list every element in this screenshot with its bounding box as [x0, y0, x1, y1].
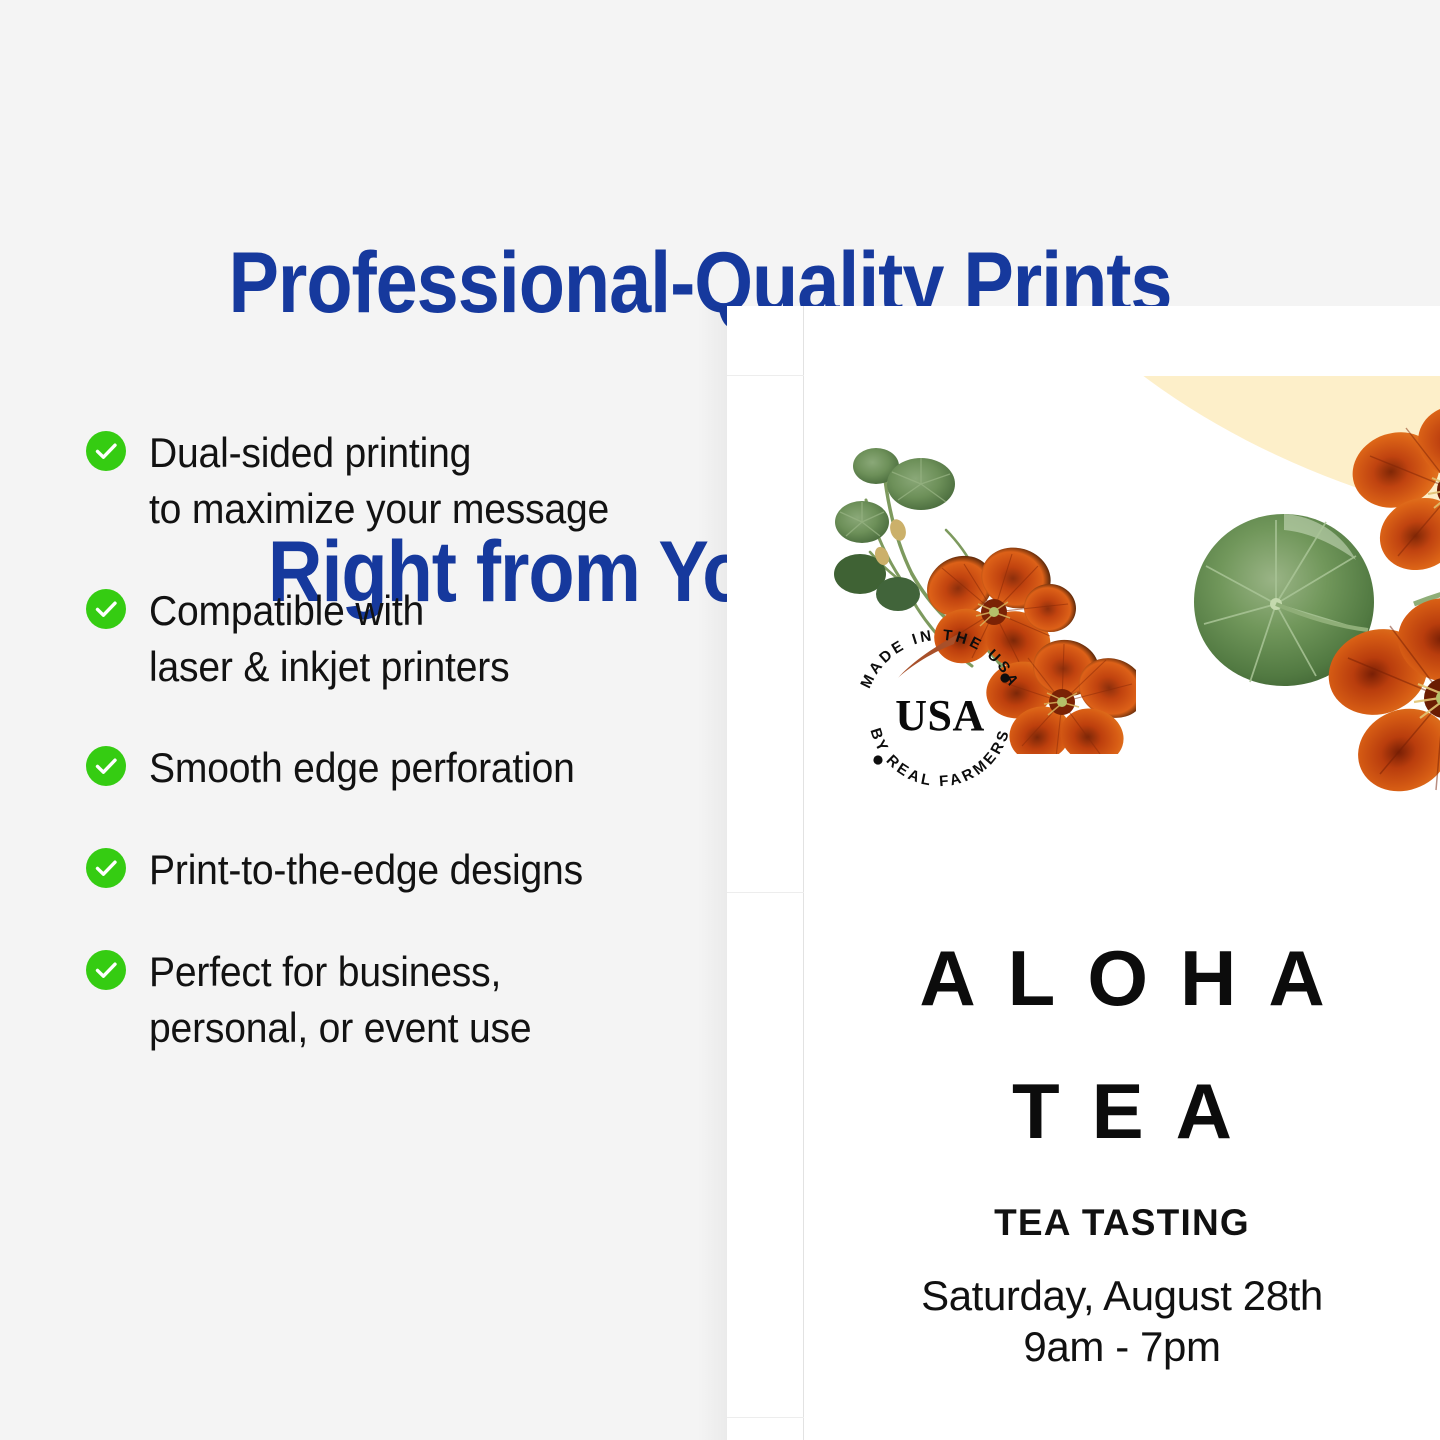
list-item-label: Perfect for business, personal, or event…	[149, 944, 531, 1056]
event-datetime-label: Saturday, August 28th9am - 7pm	[804, 1270, 1440, 1372]
flyer-brand-name: ALOHA TEA	[804, 939, 1440, 1150]
check-circle-icon	[86, 589, 126, 629]
list-item-label: Print-to-the-edge designs	[149, 842, 583, 898]
event-date-line: Saturday, August 28th	[921, 1272, 1323, 1319]
nasturtium-leaf-illustration	[1184, 504, 1384, 694]
check-circle-icon	[86, 746, 126, 786]
list-item-label: Smooth edge perforation	[149, 740, 575, 796]
list-item-label: Dual-sided printing to maximize your mes…	[149, 425, 609, 537]
printable-paper-sheet: MADE IN THE USA BY REAL FARMERS USA ALOH…	[727, 306, 1440, 1440]
perforation-line-horizontal-mid	[727, 892, 804, 893]
list-item: Smooth edge perforation	[86, 740, 686, 796]
nasturtium-flower-illustration	[1294, 548, 1440, 838]
list-item: Print-to-the-edge designs	[86, 842, 686, 898]
list-item: Compatible with laser & inkjet printers	[86, 583, 686, 695]
perforation-line-horizontal-top	[727, 375, 804, 376]
check-circle-icon	[86, 950, 126, 990]
check-circle-icon	[86, 848, 126, 888]
promo-image-canvas: Professional-Quality Prints Right from Y…	[0, 0, 1440, 1440]
made-in-usa-stamp-badge: MADE IN THE USA BY REAL FARMERS USA	[845, 620, 1035, 810]
badge-center-label: USA	[895, 691, 985, 740]
badge-separator-dot-right	[1000, 673, 1009, 682]
flyer-event-details: TEA TASTING Saturday, August 28th9am - 7…	[804, 1202, 1440, 1372]
badge-top-arc-label: MADE IN THE USA	[857, 627, 1022, 691]
event-kicker-label: TEA TASTING	[804, 1202, 1440, 1244]
feature-list: Dual-sided printing to maximize your mes…	[86, 425, 686, 1056]
flyer-panel: MADE IN THE USA BY REAL FARMERS USA ALOH…	[804, 376, 1440, 1418]
check-circle-icon	[86, 431, 126, 471]
event-time-line: 9am - 7pm	[1023, 1323, 1220, 1370]
brand-line-tea: TEA	[804, 1072, 1440, 1150]
badge-separator-dot-left	[873, 755, 882, 764]
brand-line-aloha: ALOHA	[804, 939, 1440, 1017]
list-item-label: Compatible with laser & inkjet printers	[149, 583, 509, 695]
list-item: Perfect for business, personal, or event…	[86, 944, 686, 1056]
list-item: Dual-sided printing to maximize your mes…	[86, 425, 686, 537]
